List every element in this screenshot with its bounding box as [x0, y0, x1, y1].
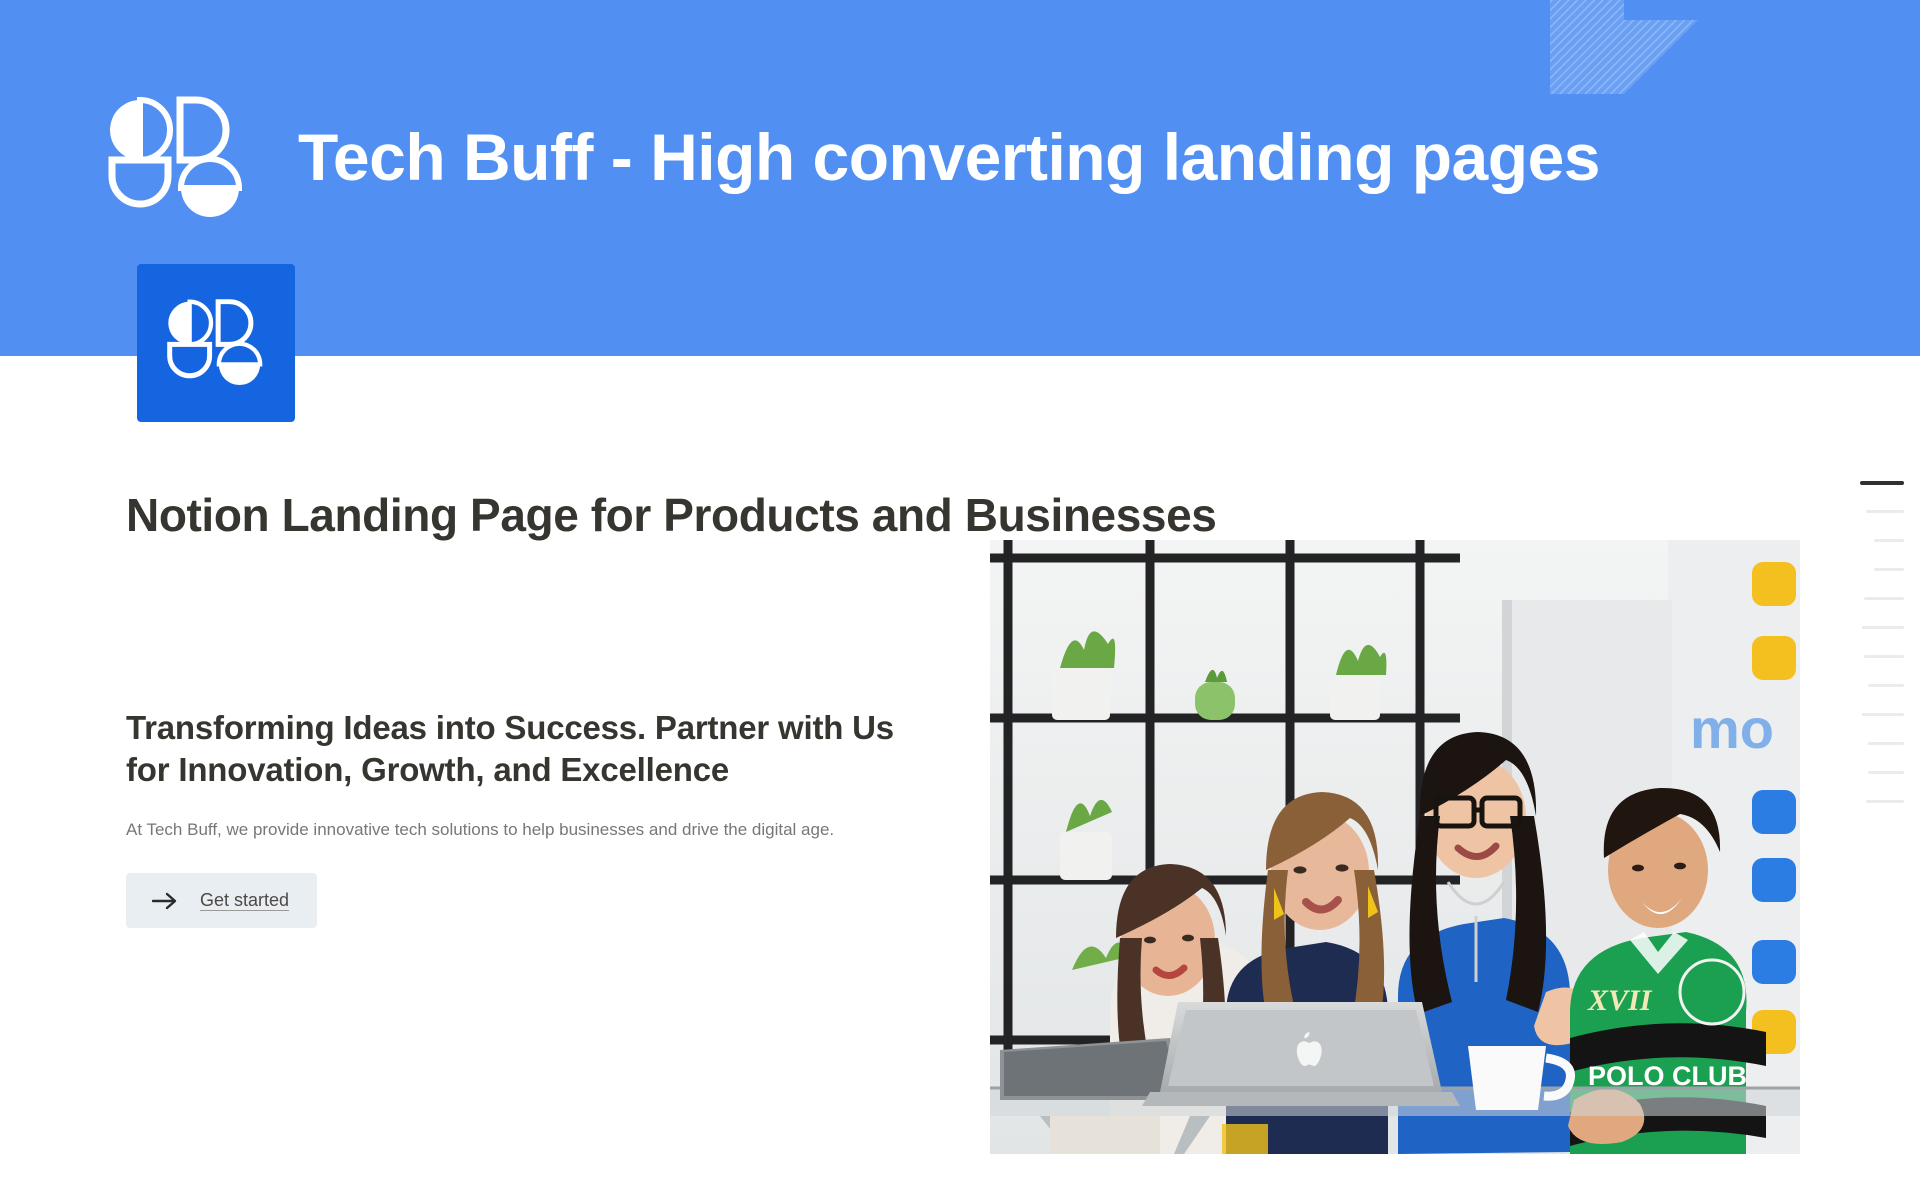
cover-content: Tech Buff - High converting landing page…: [104, 96, 1600, 220]
outline-item[interactable]: [1842, 613, 1904, 642]
cover-title: Tech Buff - High converting landing page…: [298, 123, 1600, 192]
outline-bar: [1862, 626, 1904, 629]
outline-bar: [1868, 684, 1904, 687]
arrow-right-icon: [152, 892, 178, 910]
outline-item[interactable]: [1842, 642, 1904, 671]
outline-item[interactable]: [1842, 758, 1904, 787]
hero-paragraph[interactable]: At Tech Buff, we provide innovative tech…: [126, 790, 901, 843]
outline-bar: [1864, 597, 1904, 600]
get-started-label: Get started: [200, 890, 289, 911]
outline-item[interactable]: [1842, 468, 1904, 497]
outline-item[interactable]: [1842, 700, 1904, 729]
page-icon-glyph: [164, 291, 268, 395]
hero-text-column: Transforming Ideas into Success. Partner…: [126, 540, 916, 928]
notion-page: Tech Buff - High converting landing page…: [0, 0, 1920, 1199]
outline-bar: [1860, 481, 1904, 485]
hero-image[interactable]: mo: [990, 540, 1800, 1154]
svg-text:mo: mo: [1690, 697, 1774, 760]
table-of-contents-minimap[interactable]: [1842, 468, 1904, 816]
outline-bar: [1866, 510, 1904, 513]
outline-bar: [1864, 655, 1904, 658]
outline-bar: [1866, 800, 1904, 803]
outline-item[interactable]: [1842, 526, 1904, 555]
outline-bar: [1874, 568, 1904, 571]
outline-item[interactable]: [1842, 555, 1904, 584]
outline-item[interactable]: [1842, 729, 1904, 758]
outline-item[interactable]: [1842, 497, 1904, 526]
outline-item[interactable]: [1842, 584, 1904, 613]
outline-bar: [1868, 742, 1904, 745]
striped-arrow-decoration-icon: [1542, 0, 1752, 138]
svg-text:XVII: XVII: [1587, 984, 1653, 1017]
outline-bar: [1874, 539, 1904, 542]
hero-heading[interactable]: Transforming Ideas into Success. Partner…: [126, 540, 906, 790]
get-started-button[interactable]: Get started: [126, 873, 317, 928]
tech-buff-logo-icon: [104, 96, 250, 220]
outline-item[interactable]: [1842, 671, 1904, 700]
tech-buff-page-icon[interactable]: [137, 264, 295, 422]
hero-image-column: mo: [990, 540, 1800, 1154]
outline-bar: [1868, 771, 1904, 774]
outline-bar: [1862, 713, 1904, 716]
page-title[interactable]: Notion Landing Page for Products and Bus…: [126, 488, 1216, 543]
outline-item[interactable]: [1842, 787, 1904, 816]
